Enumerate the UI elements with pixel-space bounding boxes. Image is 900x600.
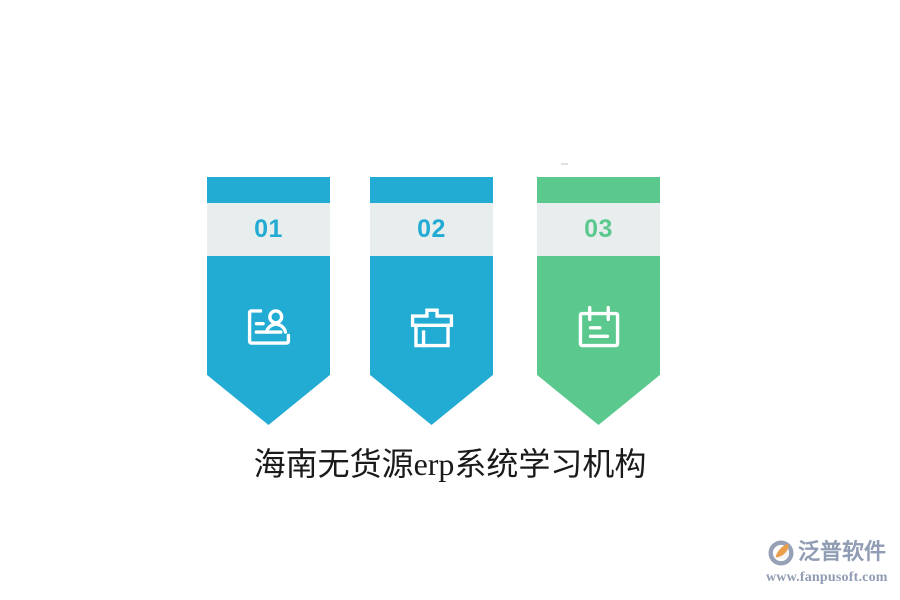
card-icon-02-wrap — [370, 287, 493, 367]
watermark-brand-row: 泛普软件 — [766, 538, 894, 568]
card-icon-03-wrap — [537, 287, 660, 367]
card-number-03: 03 — [584, 217, 613, 242]
storefront-icon — [405, 300, 459, 354]
calendar-note-icon — [572, 300, 626, 354]
number-band-03: 03 — [537, 203, 660, 256]
watermark-brand-name: 泛普软件 — [798, 538, 886, 568]
watermark: 泛普软件 www.fanpusoft.com — [766, 538, 894, 588]
id-card-person-icon — [242, 300, 296, 354]
page-title: 海南无货源erp系统学习机构 — [0, 444, 900, 484]
ribbon-card-03[interactable]: 03 — [537, 177, 660, 425]
infographic-canvas: 01 02 — [0, 0, 900, 600]
fanpu-logo-icon — [766, 538, 796, 568]
card-number-02: 02 — [417, 217, 446, 242]
watermark-url: www.fanpusoft.com — [766, 569, 894, 586]
image-artifact-speck — [561, 163, 568, 165]
card-icon-01-wrap — [207, 287, 330, 367]
number-band-01: 01 — [207, 203, 330, 256]
ribbon-card-02[interactable]: 02 — [370, 177, 493, 425]
number-band-02: 02 — [370, 203, 493, 256]
ribbon-card-group: 01 02 — [207, 177, 660, 427]
card-number-01: 01 — [254, 217, 283, 242]
ribbon-card-01[interactable]: 01 — [207, 177, 330, 425]
